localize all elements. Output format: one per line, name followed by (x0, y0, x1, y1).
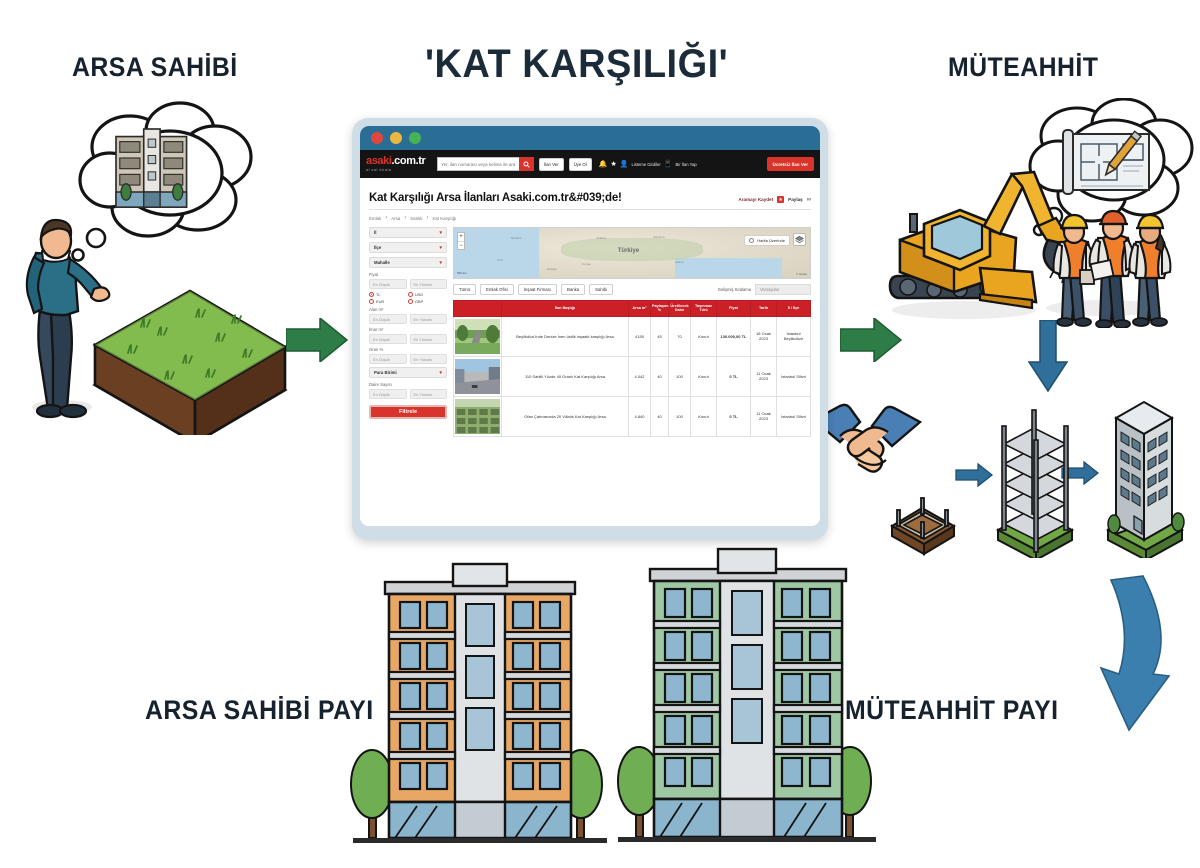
blueprint-icon (1063, 130, 1149, 194)
orange-apartment-icon (345, 560, 615, 855)
contractor-illustration (872, 98, 1194, 328)
map-country-label: Türkiye (618, 248, 639, 254)
filter-button[interactable]: Filtrele (369, 405, 447, 419)
breadcrumb: Emlak › Arsa › Satılık › Kat Karşılığı (369, 210, 811, 227)
th-type[interactable]: Taşınmaz Türü (691, 301, 717, 317)
listing-type: Konut (691, 316, 717, 356)
map-overlay-toggle[interactable]: Harita Üzerinde (744, 235, 790, 246)
logo-subtitle: al sat kirala (366, 168, 428, 172)
heading-contractor: MÜTEAHHİT (948, 52, 1098, 83)
tab-emlak-ofisi[interactable]: Emlak Ofisi (480, 284, 514, 295)
arrow-down-blue (1028, 320, 1068, 392)
tab-banka[interactable]: Banka (561, 284, 585, 295)
select-mahalle[interactable]: Mahalle ▾ (369, 257, 447, 268)
search-area (437, 157, 534, 171)
breadcrumb-item-emlak[interactable]: Emlak (369, 216, 381, 221)
radio-gbp[interactable]: GBP (408, 299, 447, 304)
th-location[interactable]: İl / İlçe (777, 301, 811, 317)
listing-location: İstanbul Silivri (777, 396, 811, 436)
user-icon[interactable]: 👤 (620, 161, 629, 168)
listing-location: İstanbul Beylikdüzü (777, 316, 811, 356)
map-city-adana: Adana (675, 260, 684, 264)
listing-share: 40 (651, 396, 669, 436)
radio-try-label: TL (376, 292, 381, 297)
listing-units: 70 (669, 316, 691, 356)
layers-icon[interactable] (793, 233, 806, 246)
listing-location: İstanbul Silivri (777, 356, 811, 396)
map-city-istanbul: İstanbul (511, 236, 522, 240)
save-search-label[interactable]: Aramayı Kaydet (738, 197, 773, 202)
listing-price: 130.000,00 TL (717, 316, 751, 356)
map-zoom-out-button[interactable]: − (458, 241, 464, 249)
listing-type: Konut (691, 396, 717, 436)
fiyat-min-input[interactable]: En Düşük (369, 279, 407, 289)
tab-tumu[interactable]: Tümü (453, 284, 476, 295)
listing-title[interactable]: Beylikdüzü'nde Denize İnen üstlik inşaat… (502, 316, 629, 356)
sort-controls: Gelişmiş Sıralama Varsayılan (718, 284, 811, 295)
free-listing-button[interactable]: Ücretsiz İlan Ver (767, 157, 815, 171)
th-title[interactable]: İlan Başlığı (502, 301, 629, 317)
select-para-label: Para Birimi (374, 370, 397, 375)
logo-tld: .com.tr (392, 155, 426, 167)
listing-date: 11 Ocak 2023 (751, 356, 777, 396)
listing-price: 0 TL (717, 356, 751, 396)
oran-min-input[interactable]: En Düşük (369, 354, 407, 364)
browser-window: asaki.com.tr al sat kirala İlan Ver Üye … (352, 118, 828, 540)
sort-label: Gelişmiş Sıralama (718, 287, 751, 292)
th-m2[interactable]: Arsa m² (629, 301, 651, 317)
arrow-curve-blue-bottom (1055, 570, 1175, 740)
filter-label-oran: Oran % (369, 347, 447, 352)
table-row[interactable]: 110 Sahilli Yüzde 40 Oranlı Kat Karşılığ… (454, 356, 811, 396)
construction-workers-icon (1046, 211, 1170, 328)
share-label[interactable]: Paylaş (788, 197, 803, 202)
radio-dot-icon (408, 292, 413, 297)
chevron-right-icon: › (426, 215, 428, 221)
alan-min-input[interactable]: En Düşük (369, 314, 407, 324)
arrow-right-green-left (286, 318, 348, 362)
infographic-stage: ARSA SAHİBİ 'KAT KARŞILIĞI' MÜTEAHHİT AR… (0, 0, 1200, 868)
listing-date: 11 Ocak 2023 (751, 396, 777, 436)
radio-usd-label: USD (415, 292, 423, 297)
map-city-konya: Konya (582, 262, 591, 266)
bookmark-icon[interactable]: ★ (777, 196, 784, 203)
filter-sidebar: İl ▾ İlçe ▾ Mahalle ▾ Fiyat (369, 227, 447, 437)
page-title-row: Kat Karşılığı Arsa İlanları Asaki.com.tr… (369, 178, 811, 210)
listing-units: 100 (669, 356, 691, 396)
chevron-down-icon: ▾ (439, 230, 442, 236)
heading-title: 'KAT KARŞILIĞI' (425, 42, 728, 87)
listing-units: 100 (669, 396, 691, 436)
filter-pair-imar: En Düşük En Yüksek (369, 334, 447, 344)
daire-max-input[interactable]: En Yüksek (410, 389, 448, 399)
filter-label-fiyat: Fiyat (369, 272, 447, 277)
chevron-down-icon: ▾ (439, 245, 442, 251)
clipboard-icon (1091, 260, 1114, 280)
breadcrumb-item-satilik[interactable]: Satılık (410, 216, 422, 221)
maximize-button[interactable] (409, 132, 421, 144)
phone-icon[interactable]: 📱 (664, 161, 673, 168)
page-actions: Aramayı Kaydet ★ Paylaş ∞ (738, 196, 811, 204)
imar-max-input[interactable]: En Yüksek (410, 334, 448, 344)
fiyat-max-input[interactable]: En Yüksek (410, 279, 448, 289)
map-toggle-label: Harita Üzerinde (757, 238, 785, 243)
select-ilce[interactable]: İlçe ▾ (369, 242, 447, 253)
bell-icon[interactable]: 🔔 (599, 161, 608, 168)
heading-landowner: ARSA SAHİBİ (72, 52, 238, 83)
nav-icons: 🔔 ★ 👤 Listeme Girdiler 📱 Bir İlan Yap (599, 161, 697, 168)
th-units[interactable]: Üretilecek Daire (669, 301, 691, 317)
browser-titlebar (360, 126, 820, 150)
close-button[interactable] (371, 132, 383, 144)
radio-dot-icon (369, 299, 374, 304)
toggle-knob-icon (749, 238, 754, 243)
table-row[interactable]: Beylikdüzü'nde Denize İnen üstlik inşaat… (454, 316, 811, 356)
tab-insaat-firmasi[interactable]: İnşaat Firması (518, 284, 557, 295)
nav-phone-text[interactable]: Bir İlan Yap (675, 162, 696, 167)
foundation-stage-icon (892, 498, 954, 554)
imar-min-input[interactable]: En Düşük (369, 334, 407, 344)
chevron-right-icon: › (385, 215, 387, 221)
site-page: Kat Karşılığı Arsa İlanları Asaki.com.tr… (360, 178, 820, 526)
sort-select[interactable]: Varsayılan (755, 284, 811, 295)
map-sea-right (675, 258, 782, 278)
chevron-down-icon: ▾ (439, 370, 442, 376)
table-header-row: İlan Başlığı Arsa m² Paylaşım % Üretilec… (454, 301, 811, 317)
filter-label-imar: İmar m² (369, 327, 447, 332)
listing-date: 18 Ocak 2023 (751, 316, 777, 356)
radio-eur-label: EUR (376, 299, 384, 304)
search-input[interactable] (437, 157, 519, 171)
share-icon[interactable]: ∞ (807, 197, 811, 203)
listing-thumbnail[interactable] (454, 356, 502, 396)
nav-user-text[interactable]: Listeme Girdiler (631, 162, 660, 167)
nav-button-uye-ol[interactable]: Üye Ol (569, 158, 592, 171)
currency-radio-group: TL USD EUR (369, 292, 447, 304)
logo-main: asaki (366, 155, 392, 167)
map-city-antalya: Antalya (547, 267, 557, 271)
listing-m2: 4.042 (629, 356, 651, 396)
page-title: Kat Karşılığı Arsa İlanları Asaki.com.tr… (369, 192, 622, 204)
filter-pair-fiyat: En Düşük En Yüksek (369, 279, 447, 289)
filter-label-daire: Daire Sayısı (369, 382, 447, 387)
site-navbar: asaki.com.tr al sat kirala İlan Ver Üye … (360, 150, 820, 178)
select-mahalle-label: Mahalle (374, 260, 390, 265)
daire-min-input[interactable]: En Düşük (369, 389, 407, 399)
listing-price: 0 TL (717, 396, 751, 436)
breadcrumb-item-arsa[interactable]: Arsa (391, 216, 400, 221)
listing-title[interactable]: 110 Sahilli Yüzde 40 Oranlı Kat Karşılığ… (502, 356, 629, 396)
select-il-label: İl (374, 230, 376, 235)
listing-share: 45 (651, 316, 669, 356)
filter-pair-alan: En Düşük En Yüksek (369, 314, 447, 324)
map-widget[interactable]: Türkiye İstanbul Ankara Samsun İzmir Ada… (453, 227, 811, 279)
results-column: Türkiye İstanbul Ankara Samsun İzmir Ada… (453, 227, 811, 437)
map-city-izmir: İzmir (497, 258, 504, 262)
site-logo[interactable]: asaki.com.tr al sat kirala (366, 156, 428, 172)
filter-tabs-row: Tümü Emlak Ofisi İnşaat Firması Banka Sa… (453, 279, 811, 300)
th-share[interactable]: Paylaşım % (651, 301, 669, 317)
map-zoom-in-button[interactable]: + (458, 233, 464, 241)
grass-land-plot-icon (95, 291, 285, 435)
th-price[interactable]: Fiyat (717, 301, 751, 317)
arrow-right-blue-1 (956, 464, 992, 486)
content-columns: İl ▾ İlçe ▾ Mahalle ▾ Fiyat (369, 227, 811, 437)
select-il[interactable]: İl ▾ (369, 227, 447, 238)
frame-stage-icon (998, 410, 1072, 558)
apartment-building-icon (116, 129, 187, 207)
search-icon[interactable] (519, 157, 534, 171)
map-city-ankara: Ankara (596, 236, 606, 240)
select-para-birimi[interactable]: Para Birimi ▾ (369, 367, 447, 378)
radio-usd[interactable]: USD (408, 292, 447, 297)
map-attribution: © Harita (796, 272, 807, 276)
listing-title[interactable]: Ofan Çatmasında 20 Villalık Kat Karşılığ… (502, 396, 629, 436)
radio-dot-icon (369, 292, 374, 297)
chevron-right-icon: › (404, 215, 406, 221)
map-scale-label: 500 km (457, 271, 467, 275)
listing-m2: 4150 (629, 316, 651, 356)
label-landowner-share: ARSA SAHİBİ PAYI (145, 695, 374, 726)
radio-gbp-label: GBP (415, 299, 423, 304)
listing-thumbnail[interactable] (454, 396, 502, 436)
listing-thumbnail[interactable] (454, 316, 502, 356)
tree-left (351, 750, 393, 838)
construction-stages (890, 398, 1190, 558)
nav-button-ilan-ver[interactable]: İlan Ver (539, 158, 564, 171)
landowner-illustration (10, 95, 340, 435)
filter-pair-daire: En Düşük En Yüksek (369, 389, 447, 399)
radio-eur[interactable]: EUR (369, 299, 408, 304)
filter-label-alan: Alan m² (369, 307, 447, 312)
oran-max-input[interactable]: En Yüksek (410, 354, 448, 364)
th-date[interactable]: Tarih (751, 301, 777, 317)
listings-table: İlan Başlığı Arsa m² Paylaşım % Üretilec… (453, 300, 811, 437)
map-zoom-controls[interactable]: + − (457, 232, 465, 250)
listing-share: 40 (651, 356, 669, 396)
green-apartment-icon (612, 545, 882, 855)
breadcrumb-item-kat-karsiligi[interactable]: Kat Karşılığı (432, 216, 456, 221)
th-thumb (454, 301, 502, 317)
select-ilce-label: İlçe (374, 245, 381, 250)
table-row[interactable]: Ofan Çatmasında 20 Villalık Kat Karşılığ… (454, 396, 811, 436)
star-icon[interactable]: ★ (610, 161, 616, 168)
tab-sahibi[interactable]: Sahibi (589, 284, 613, 295)
radio-try[interactable]: TL (369, 292, 408, 297)
listing-type: Konut (691, 356, 717, 396)
minimize-button[interactable] (390, 132, 402, 144)
listing-m2: 4.840 (629, 396, 651, 436)
filter-pair-oran: En Düşük En Yüksek (369, 354, 447, 364)
map-city-samsun: Samsun (653, 235, 664, 239)
radio-dot-icon (408, 299, 413, 304)
finished-tower-icon (1108, 402, 1184, 558)
alan-max-input[interactable]: En Yüksek (410, 314, 448, 324)
chevron-down-icon: ▾ (439, 260, 442, 266)
